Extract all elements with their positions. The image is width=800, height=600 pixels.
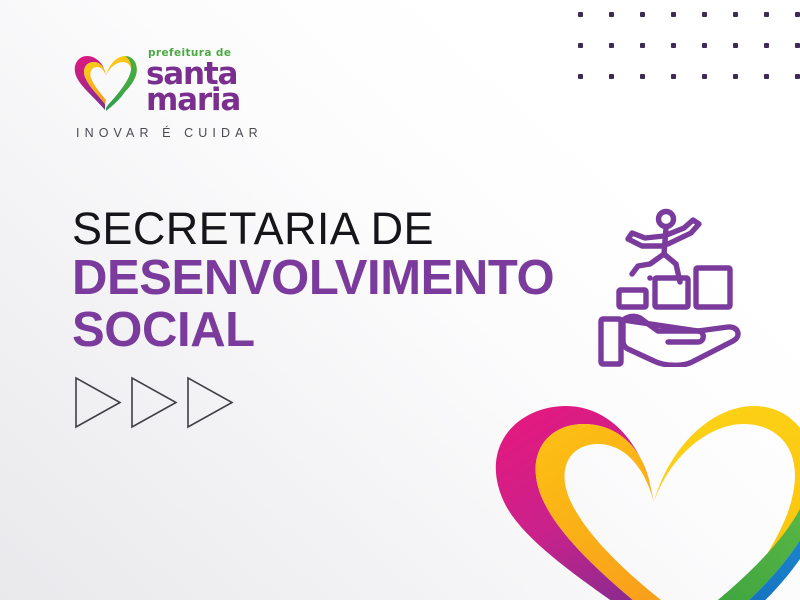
grid-dot	[764, 12, 769, 17]
multicolor-heart-icon	[72, 52, 140, 114]
grid-dot	[733, 43, 738, 48]
grid-dot	[609, 74, 614, 79]
logo-tagline: INOVAR É CUIDAR	[76, 126, 263, 140]
page-title: SECRETARIA DE DESENVOLVIMENTO SOCIAL	[72, 206, 612, 357]
grid-dot	[764, 43, 769, 48]
grid-dot	[795, 12, 800, 17]
triangle-right-outline-icon	[186, 376, 235, 429]
banner-canvas: prefeitura de santa maria INOVAR É CUIDA…	[0, 0, 800, 600]
grid-dot	[671, 43, 676, 48]
grid-dot	[702, 43, 707, 48]
person-climbing-steps-on-hand-icon	[592, 202, 752, 367]
grid-dot	[671, 12, 676, 17]
logo-maria-text: maria	[146, 87, 306, 114]
prefeitura-logo: prefeitura de santa maria INOVAR É CUIDA…	[72, 48, 302, 144]
dot-grid-decoration	[578, 12, 800, 105]
grid-dot	[609, 12, 614, 17]
triangle-right-outline-icon	[130, 376, 179, 429]
triangle-right-outline-icon	[74, 376, 123, 429]
grid-dot	[764, 74, 769, 79]
grid-dot	[702, 74, 707, 79]
grid-dot	[640, 43, 645, 48]
grid-dot	[795, 43, 800, 48]
grid-dot	[702, 12, 707, 17]
grid-dot	[671, 74, 676, 79]
grid-dot	[733, 12, 738, 17]
santa-maria-heart-graphic	[466, 398, 800, 600]
title-line-secretaria: SECRETARIA DE	[72, 206, 612, 253]
grid-dot	[733, 74, 738, 79]
triangle-arrow-group	[74, 376, 235, 429]
grid-dot	[609, 43, 614, 48]
grid-dot	[578, 74, 583, 79]
grid-dot	[578, 12, 583, 17]
title-line-desenvolvimento: DESENVOLVIMENTO	[72, 253, 612, 305]
grid-dot	[795, 74, 800, 79]
grid-dot	[640, 12, 645, 17]
grid-dot	[640, 74, 645, 79]
title-line-social: SOCIAL	[72, 305, 612, 357]
grid-dot	[578, 43, 583, 48]
logo-wordmark: prefeitura de santa maria	[146, 48, 306, 114]
